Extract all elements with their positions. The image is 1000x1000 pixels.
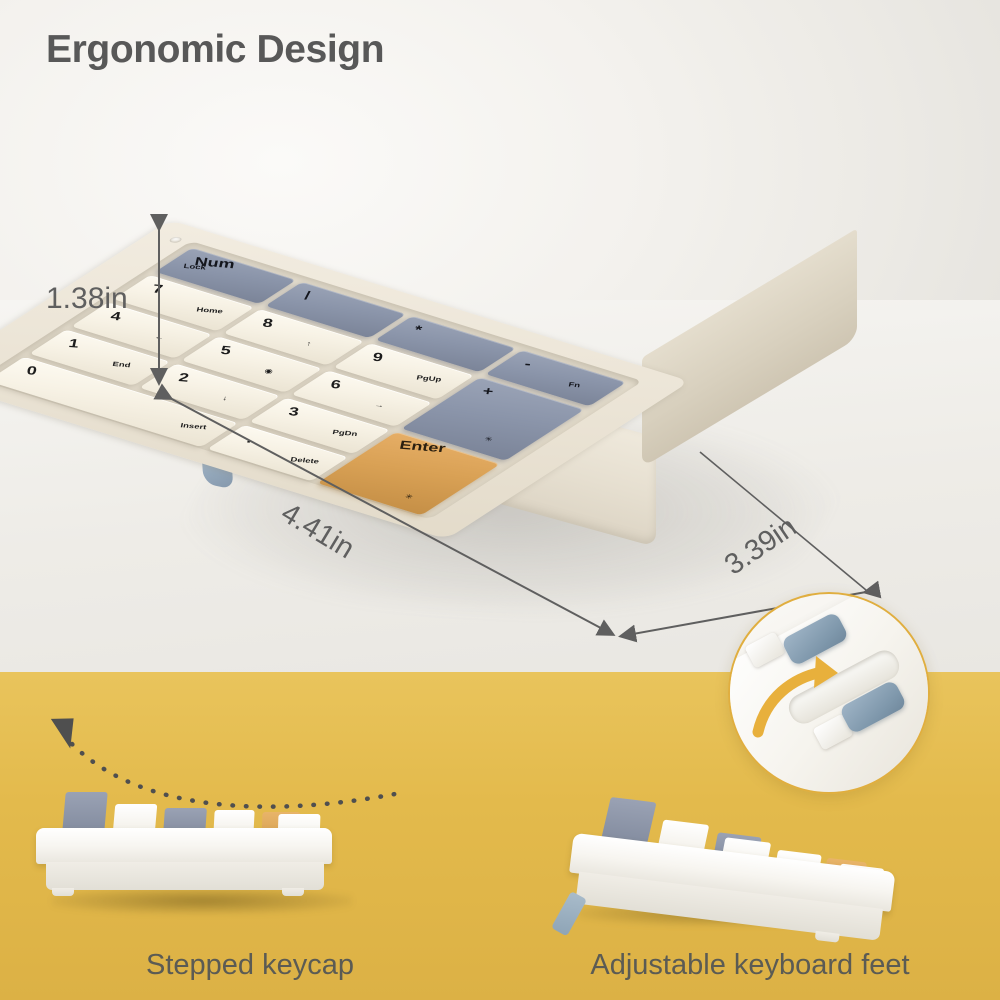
- page-title: Ergonomic Design: [46, 28, 384, 72]
- keycap-primary-label: .: [245, 432, 253, 446]
- product-feature-image: Ergonomic Design NumLock/*-Fn7Home8↑9PgU…: [0, 0, 1000, 1000]
- feature-stepped-keycap: Stepped keycap: [0, 672, 500, 1000]
- keycap-primary-label: 9: [371, 350, 384, 365]
- keycap-primary-label: 1: [67, 336, 80, 351]
- keycap-primary-label: 3: [287, 405, 300, 420]
- keycap-secondary-label: Insert: [180, 422, 207, 431]
- keycap-secondary-label: →: [374, 401, 385, 409]
- keycap-secondary-label: Fn: [568, 381, 581, 389]
- keycap-primary-label: 2: [177, 371, 190, 386]
- hero-section: Ergonomic Design NumLock/*-Fn7Home8↑9PgU…: [0, 0, 1000, 672]
- feature-caption-stepped-keycap: Stepped keycap: [0, 949, 500, 982]
- keycap-secondary-label: ◉: [264, 367, 274, 375]
- inset-flip-arrow-icon: [730, 594, 928, 792]
- keycap-secondary-label: ↓: [222, 394, 228, 401]
- keycap-primary-label: 7: [151, 282, 164, 297]
- keycap-primary-label: 6: [329, 377, 342, 392]
- feature-caption-adjustable-feet: Adjustable keyboard feet: [500, 949, 1000, 982]
- keycap-secondary-label: PgDn: [332, 429, 358, 438]
- keycap-secondary-label: Lock: [183, 262, 207, 271]
- keycap-secondary-label: ←: [154, 333, 165, 341]
- keyboard-side-view-left: [36, 792, 366, 912]
- keycap-secondary-label: ✳: [404, 493, 414, 501]
- keycap-primary-label: *: [413, 323, 423, 337]
- adjustable-feet-inset-callout: [728, 592, 930, 794]
- keycap-primary-label: 0: [25, 364, 38, 379]
- keycap-secondary-label: Delete: [290, 456, 320, 465]
- dimension-height-label: 1.38in: [46, 282, 128, 316]
- keycap-secondary-label: PgUp: [416, 374, 442, 383]
- keycap-secondary-label: End: [112, 360, 131, 368]
- keycap-primary-label: +: [481, 384, 495, 399]
- keycap-primary-label: Enter: [398, 438, 447, 456]
- keycap-secondary-label: ↑: [306, 340, 312, 347]
- keycap-primary-label: /: [303, 289, 311, 303]
- keycap-primary-label: -: [523, 357, 532, 371]
- keyboard-side-view-right: [562, 780, 922, 930]
- keycap-secondary-label: ✳: [484, 435, 494, 443]
- keycap-secondary-label: Home: [196, 306, 224, 315]
- keycap-primary-label: 8: [261, 316, 274, 331]
- keycap-primary-label: 5: [219, 343, 232, 358]
